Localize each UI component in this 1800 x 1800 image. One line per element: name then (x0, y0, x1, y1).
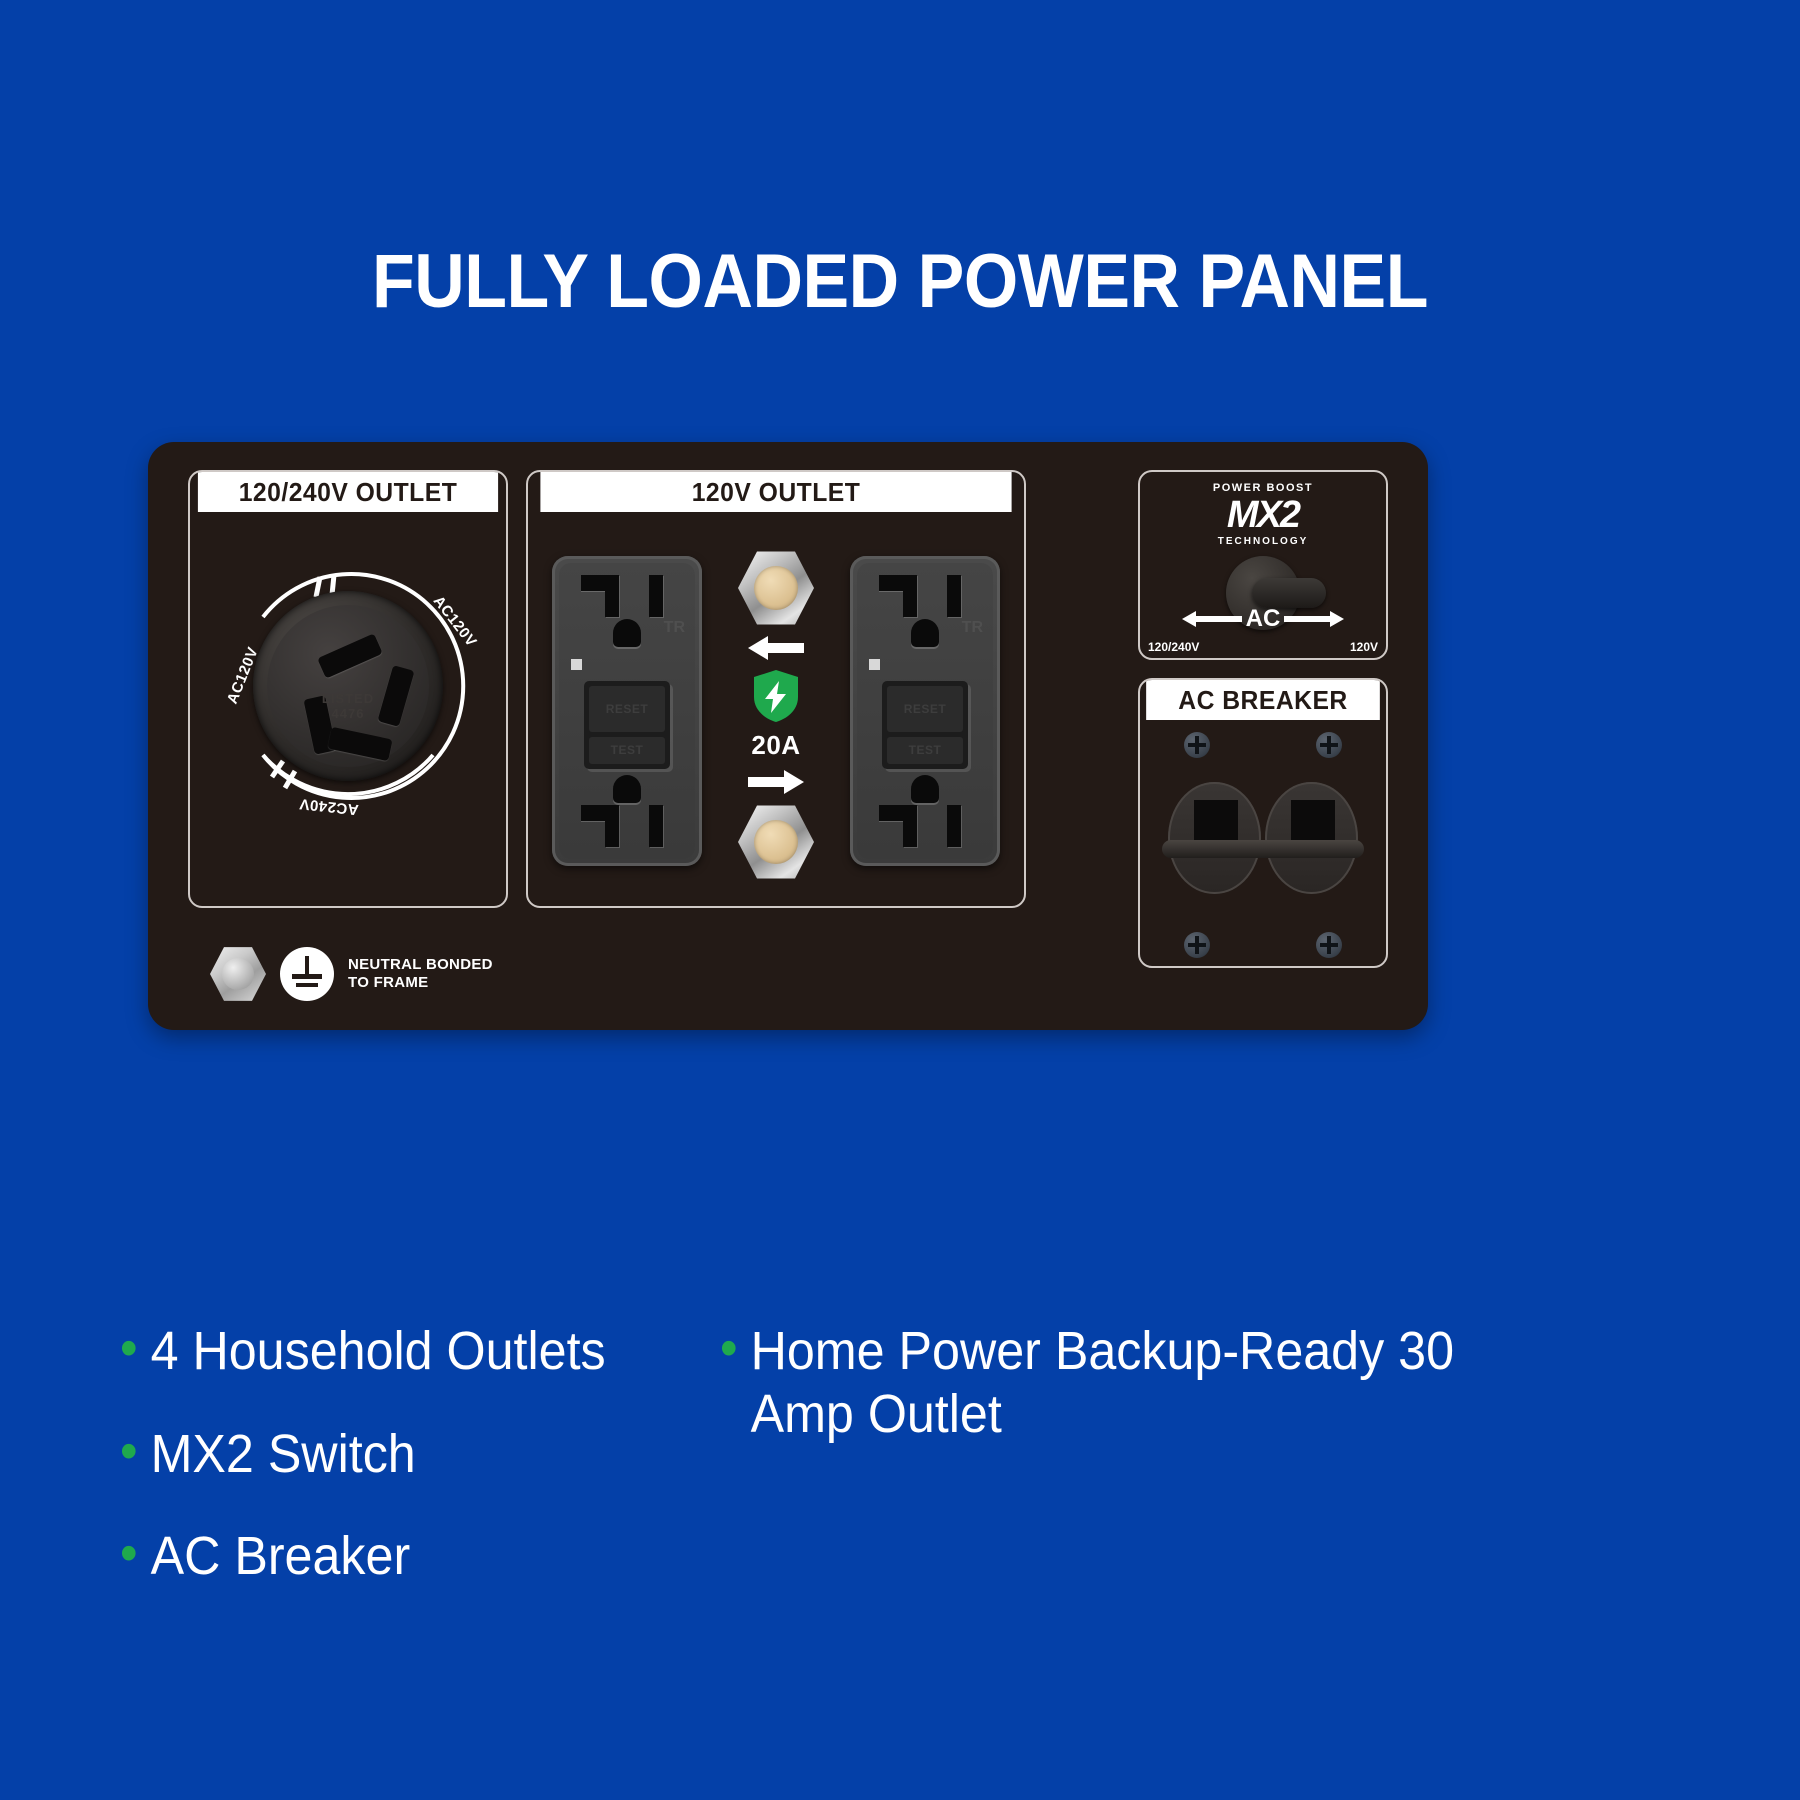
ground-pin-hole (613, 619, 641, 647)
neutral-blade-slot-vertical (605, 575, 619, 617)
section-header-ac-breaker: AC BREAKER (1146, 680, 1380, 720)
hot-blade-slot (947, 805, 961, 847)
ground-pin-hole (911, 775, 939, 803)
feature-list: • 4 Household Outlets • MX2 Switch • AC … (120, 1320, 1680, 1628)
list-item-label: Home Power Backup-Ready 30 Amp Outlet (751, 1320, 1557, 1445)
list-item-label: 4 Household Outlets (151, 1320, 606, 1383)
hex-screw-cap (222, 958, 254, 990)
bullet-dot-icon: • (720, 1320, 738, 1377)
listed-line-2: 4476 (332, 706, 365, 721)
breaker-button[interactable] (1194, 800, 1238, 842)
center-indicator-column: 20A (721, 550, 831, 880)
bullet-dot-icon: • (120, 1525, 138, 1582)
bullet-dot-icon: • (120, 1423, 138, 1480)
ground-bar-2 (296, 983, 318, 987)
120v-body: TR RESET TEST (528, 512, 1024, 908)
gfci-test-button[interactable]: TEST (589, 737, 665, 764)
phillips-screw-icon (1184, 732, 1210, 758)
hot-blade-slot (947, 575, 961, 617)
listed-line-1: LISTED (322, 691, 374, 706)
gfci-receptacle-right[interactable]: TR RESET TEST (850, 556, 1000, 866)
hot-blade-slot (649, 805, 663, 847)
receptacle-slot-top (317, 633, 383, 678)
brass-hex-screw-icon[interactable] (738, 550, 814, 626)
ground-pin-hole (613, 775, 641, 803)
ground-pin-hole (911, 619, 939, 647)
rotary-switch-lever[interactable] (1252, 578, 1326, 608)
feature-column-left: • 4 Household Outlets • MX2 Switch • AC … (120, 1320, 720, 1628)
gfci-reset-button[interactable]: RESET (589, 686, 665, 732)
breaker-button[interactable] (1291, 800, 1335, 842)
ground-bar-1 (292, 974, 322, 979)
ac-mode-row: AC (1148, 606, 1378, 632)
neutral-bonded-note: NEUTRAL BONDED TO FRAME (348, 956, 493, 992)
bullet-dot-icon: • (120, 1320, 138, 1377)
section-120-240v-outlet: 120/240V OUTLET AC120V AC120V AC240V (188, 470, 508, 908)
phillips-screw-icon (1316, 732, 1342, 758)
receptacle-face: LISTED 4476 (267, 605, 429, 767)
gfci-left-face: TR RESET TEST (559, 563, 695, 859)
hot-blade-slot (649, 575, 663, 617)
arrow-right-icon (746, 767, 806, 797)
mx2-tagline-bottom: TECHNOLOGY (1140, 536, 1386, 547)
rocker-breaker-icon[interactable] (1265, 782, 1358, 894)
arrow-left-icon (1180, 609, 1242, 629)
list-item: • Home Power Backup-Ready 30 Amp Outlet (720, 1320, 1557, 1445)
mx2-tagline-top: POWER BOOST (1140, 482, 1386, 494)
list-item-label: MX2 Switch (151, 1423, 416, 1486)
earth-ground-icon (280, 947, 334, 1001)
shield-svg (752, 669, 800, 723)
section-header-120-240v: 120/240V OUTLET (198, 472, 498, 512)
gfci-indicator-led (571, 659, 582, 670)
neutral-blade-slot-vertical (903, 805, 917, 847)
receptacle-listed-mark: LISTED 4476 (267, 691, 429, 721)
gfci-test-button[interactable]: TEST (887, 737, 963, 764)
mx2-inner: POWER BOOST MX2 TECHNOLOGY AC 120/240V 1… (1140, 472, 1386, 658)
section-mx2-switch: POWER BOOST MX2 TECHNOLOGY AC 120/240V 1… (1138, 470, 1388, 660)
neutral-note-line-2: TO FRAME (348, 974, 428, 991)
gfci-right-plug-bottom[interactable] (873, 779, 977, 851)
breaker-tie-bar[interactable] (1162, 840, 1364, 858)
section-ac-breaker: AC BREAKER (1138, 678, 1388, 968)
arrow-right-icon (1284, 609, 1346, 629)
section-header-120v: 120V OUTLET (540, 472, 1011, 512)
ac-mode-right-label: 120V (1350, 640, 1378, 654)
ac-mode-left-label: 120/240V (1148, 640, 1199, 654)
tamper-resistant-mark: TR (962, 619, 983, 637)
receptacle-slot-bottom (327, 727, 392, 761)
neutral-note-line-1: NEUTRAL BONDED (348, 956, 493, 973)
phillips-screw-icon (1316, 932, 1342, 958)
page-title: FULLY LOADED POWER PANEL (72, 238, 1728, 325)
green-shield-bolt-icon (752, 669, 800, 723)
hex-screw-icon[interactable] (210, 946, 266, 1002)
gfci-button-group-right[interactable]: RESET TEST (882, 681, 968, 769)
ac-breaker-body (1140, 720, 1386, 968)
brass-screw-cap (754, 566, 798, 610)
brass-hex-screw-icon[interactable] (738, 804, 814, 880)
rocker-breaker-icon[interactable] (1168, 782, 1261, 894)
ground-stem (305, 956, 309, 976)
brass-screw-cap (754, 820, 798, 864)
twist-lock-receptacle[interactable]: LISTED 4476 (253, 591, 443, 781)
neutral-blade-slot-vertical (903, 575, 917, 617)
ac-mode-label: AC (1242, 605, 1285, 633)
list-item: • MX2 Switch (120, 1423, 678, 1486)
neutral-blade-slot-vertical (605, 805, 619, 847)
power-panel: 120/240V OUTLET AC120V AC120V AC240V (148, 442, 1428, 1030)
list-item: • AC Breaker (120, 1525, 678, 1588)
list-item-label: AC Breaker (151, 1525, 411, 1588)
gfci-reset-button[interactable]: RESET (887, 686, 963, 732)
mx2-logo: MX2 (1140, 494, 1386, 537)
phillips-screw-icon (1184, 932, 1210, 958)
neutral-bond-group: NEUTRAL BONDED TO FRAME (210, 946, 493, 1002)
feature-column-right: • Home Power Backup-Ready 30 Amp Outlet (720, 1320, 1620, 1628)
breaker-group[interactable] (1168, 782, 1358, 894)
gfci-right-face: TR RESET TEST (857, 563, 993, 859)
gfci-receptacle-left[interactable]: TR RESET TEST (552, 556, 702, 866)
gfci-left-plug-bottom[interactable] (575, 779, 679, 851)
ac-mode-labels: 120/240V 120V (1148, 640, 1378, 654)
gfci-button-group-left[interactable]: RESET TEST (584, 681, 670, 769)
list-item: • 4 Household Outlets (120, 1320, 678, 1383)
amp-rating-label: 20A (751, 730, 800, 761)
section-120v-outlet: 120V OUTLET TR RESET TEST (526, 470, 1026, 908)
arrow-left-icon (746, 633, 806, 663)
tamper-resistant-mark: TR (664, 619, 685, 637)
gfci-indicator-led (869, 659, 880, 670)
